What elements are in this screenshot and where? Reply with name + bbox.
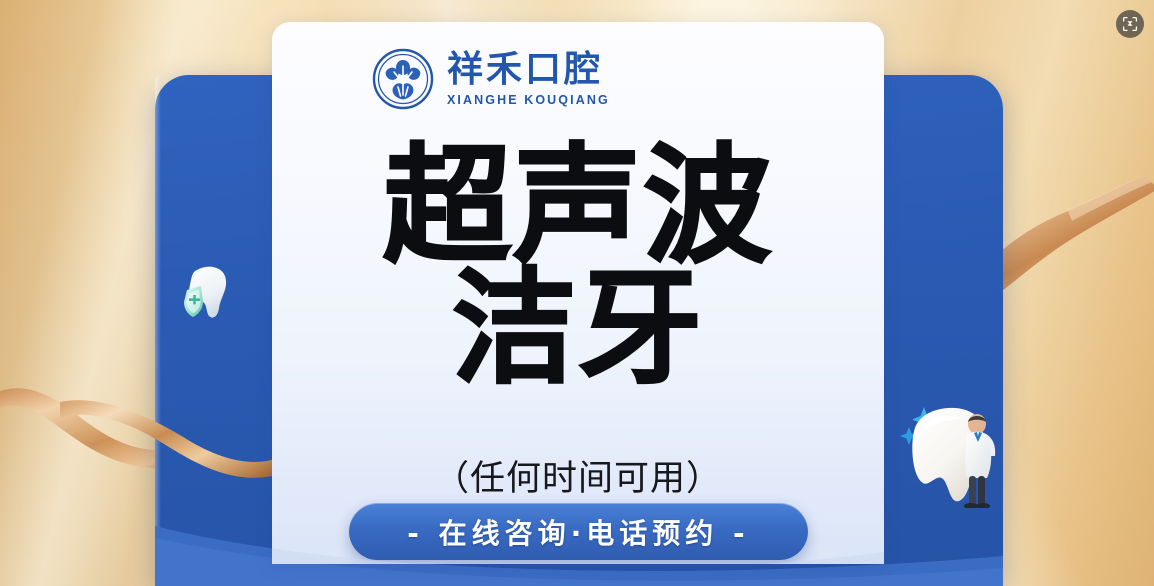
brand-name-cn: 祥禾口腔 [447, 51, 603, 89]
tooth-shield-icon [175, 262, 237, 324]
poster-stage: 祥禾口腔 XIANGHE KOUQIANG 超声波 洁牙 （任何时间可用） - … [0, 0, 1154, 586]
brand-name-en: XIANGHE KOUQIANG [447, 93, 610, 107]
dentist-figure-icon [955, 412, 1001, 508]
headline-line-1: 超声波 [272, 142, 884, 273]
subtitle: （任何时间可用） [272, 450, 884, 501]
content-card: 祥禾口腔 XIANGHE KOUQIANG 超声波 洁牙 （任何时间可用） - … [272, 22, 884, 564]
headline: 超声波 洁牙 [272, 142, 884, 391]
headline-line-2: 洁牙 [272, 267, 884, 391]
scan-frame-icon[interactable] [1116, 10, 1144, 38]
flower-emblem-icon [372, 48, 434, 110]
brand-logo: 祥禾口腔 XIANGHE KOUQIANG [372, 48, 610, 110]
card-bottom-wave [272, 504, 884, 564]
